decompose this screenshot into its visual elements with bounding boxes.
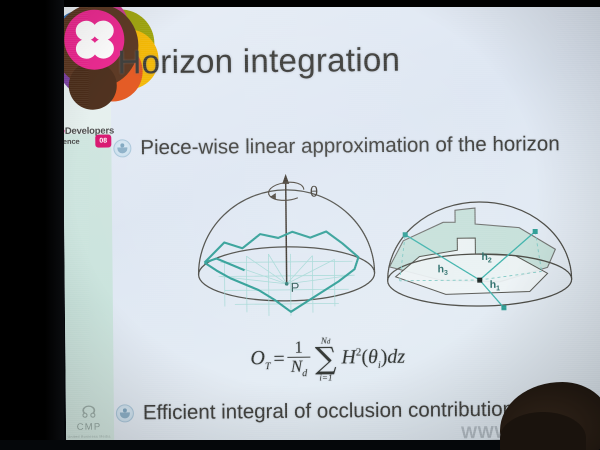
slide-sidebar-band (63, 134, 114, 444)
formula-frac-den-sub: d (302, 368, 307, 379)
h3-sub: 3 (444, 270, 448, 277)
gdc-person-bullet-icon (113, 139, 131, 157)
formula-equals: = (273, 348, 285, 371)
formula-frac-numerator: 1 (290, 339, 307, 357)
hemisphere-piecewise-horizon-diagram: θ P (186, 165, 387, 322)
formula-sum-lower: i=1 (319, 374, 332, 383)
hemisphere-horizon-heights-diagram: h1 h2 h3 (379, 193, 580, 320)
formula-fraction: 1 Nd (288, 339, 311, 380)
slide-bullet-1-label: Piece-wise linear approximation of the h… (140, 132, 560, 160)
slide-bullet-2: Efficient integral of occlusion contribu… (116, 398, 514, 426)
formula-frac-den-var: N (291, 357, 303, 376)
slide-title: Horizon integration (117, 41, 400, 82)
room-dark-top (0, 0, 600, 7)
formula-sigma-symbol: ∑ (315, 345, 337, 374)
cmp-logo-text: CMP (62, 421, 122, 433)
theta-axis-label: θ (310, 184, 319, 201)
slide-bullet-1: Piece-wise linear approximation of the h… (113, 132, 560, 160)
room-dark-left (0, 0, 64, 450)
projected-slide-photo: GameDevelopers Conference 08 Horizon int… (0, 0, 600, 450)
gdc-wordmark-conference: Conference (62, 137, 80, 146)
formula-lhs-sub: T (265, 361, 271, 372)
formula-lhs-var: O (250, 347, 265, 369)
formula-term-theta: θ (368, 346, 378, 368)
formula-summation: Nd ∑ i=1 (315, 336, 337, 382)
h1-sub: 1 (496, 285, 500, 292)
cmp-logo: ☊ CMP United Business Media (62, 403, 122, 444)
h2-sub: 2 (488, 257, 492, 264)
slide-bullet-2-label: Efficient integral of occlusion contribu… (143, 398, 514, 426)
point-p-label: P (291, 280, 300, 295)
cmp-tagline: United Business Media (62, 434, 122, 439)
formula-term-dz: dz (387, 346, 405, 368)
occlusion-integral-formula: OT = 1 Nd Nd ∑ i=1 H2(θi)dz (250, 336, 405, 383)
presentation-slide: GameDevelopers Conference 08 Horizon int… (62, 1, 600, 444)
cmp-glyph-icon: ☊ (62, 403, 122, 421)
formula-term-h: H (341, 347, 356, 369)
gdc-year-badge: 08 (95, 135, 111, 148)
